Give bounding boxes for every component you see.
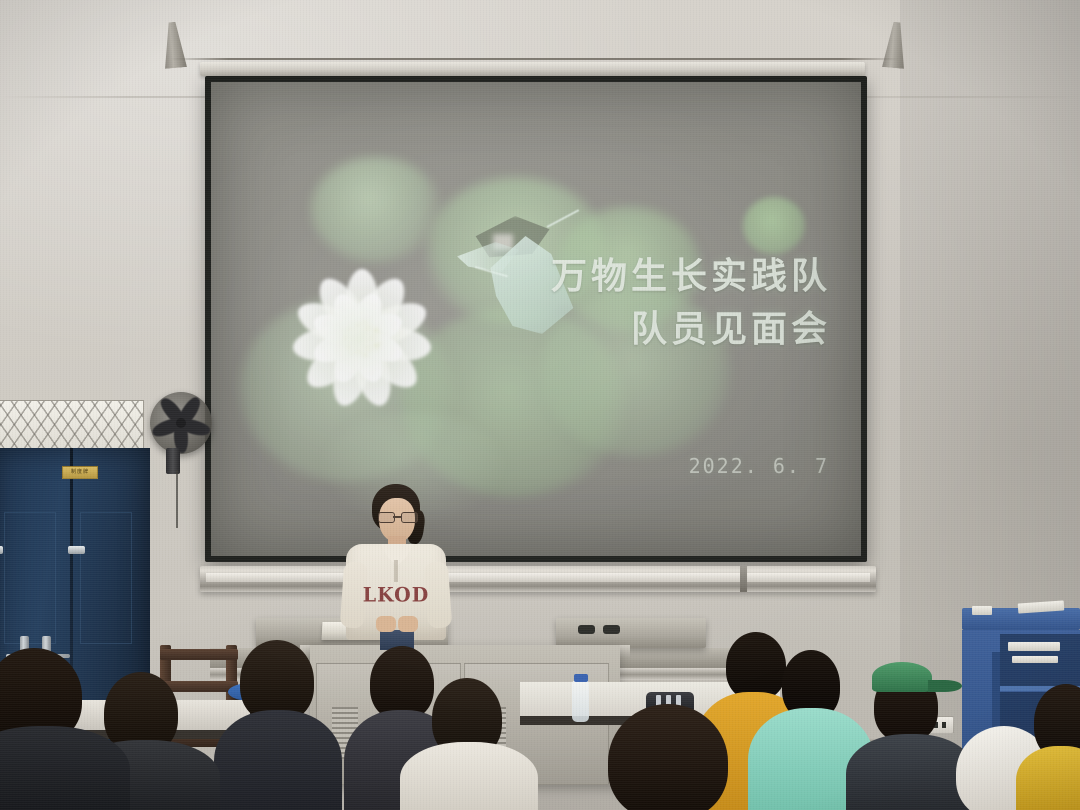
door-plaque: 制度牌 xyxy=(62,466,98,479)
lotus-flower-icon xyxy=(273,250,451,428)
screen-roller-line xyxy=(170,58,900,60)
audience-area xyxy=(0,630,1080,810)
door-lock-left[interactable] xyxy=(0,546,3,554)
green-cap xyxy=(872,662,932,692)
slide-title-line2: 队员见面会 xyxy=(551,303,831,356)
door-transom-window xyxy=(0,400,144,454)
door-panel xyxy=(80,512,132,644)
presenter: LKOD xyxy=(340,484,452,639)
slide-title-line1: 万物生长实践队 xyxy=(551,250,831,303)
slide-date: 2022. 6. 7 xyxy=(689,454,829,478)
fan-hub xyxy=(176,418,186,428)
door-panel xyxy=(4,512,56,644)
student-head xyxy=(608,704,728,810)
presenter-glasses xyxy=(378,512,416,521)
presenter-shirt-text: LKOD xyxy=(350,583,442,606)
projector-screen-frame: 万物生长实践队 队员见面会 2022. 6. 7 xyxy=(205,76,867,562)
presenter-placket xyxy=(394,560,398,582)
projector-screen: 万物生长实践队 队员见面会 2022. 6. 7 xyxy=(211,82,861,556)
lily-pad-icon xyxy=(743,197,805,255)
water-bottle xyxy=(572,680,589,722)
photo-canvas: 万物生长实践队 队员见面会 2022. 6. 7 xyxy=(0,0,1080,810)
student-head xyxy=(726,632,786,700)
chalk-rail xyxy=(200,566,876,592)
chalk-rail-inner xyxy=(206,573,870,582)
cap-brim xyxy=(928,680,962,692)
screen-roller-housing xyxy=(200,62,865,76)
moth-antenna xyxy=(547,209,580,228)
bottle-cap xyxy=(574,674,588,682)
wall-fan-icon xyxy=(150,392,212,454)
student-head xyxy=(370,646,434,720)
chalk-rail-divider xyxy=(740,566,747,592)
door-plaque-text: 制度牌 xyxy=(63,467,97,478)
door-lock-right[interactable] xyxy=(68,546,85,554)
student-body xyxy=(214,710,342,810)
student-body xyxy=(400,742,538,810)
fan-pull-cord[interactable] xyxy=(176,470,178,528)
lily-pad-icon xyxy=(311,157,441,262)
paper-on-top xyxy=(972,606,992,615)
slide-title: 万物生长实践队 队员见面会 xyxy=(551,250,831,357)
window-grille xyxy=(0,401,143,453)
